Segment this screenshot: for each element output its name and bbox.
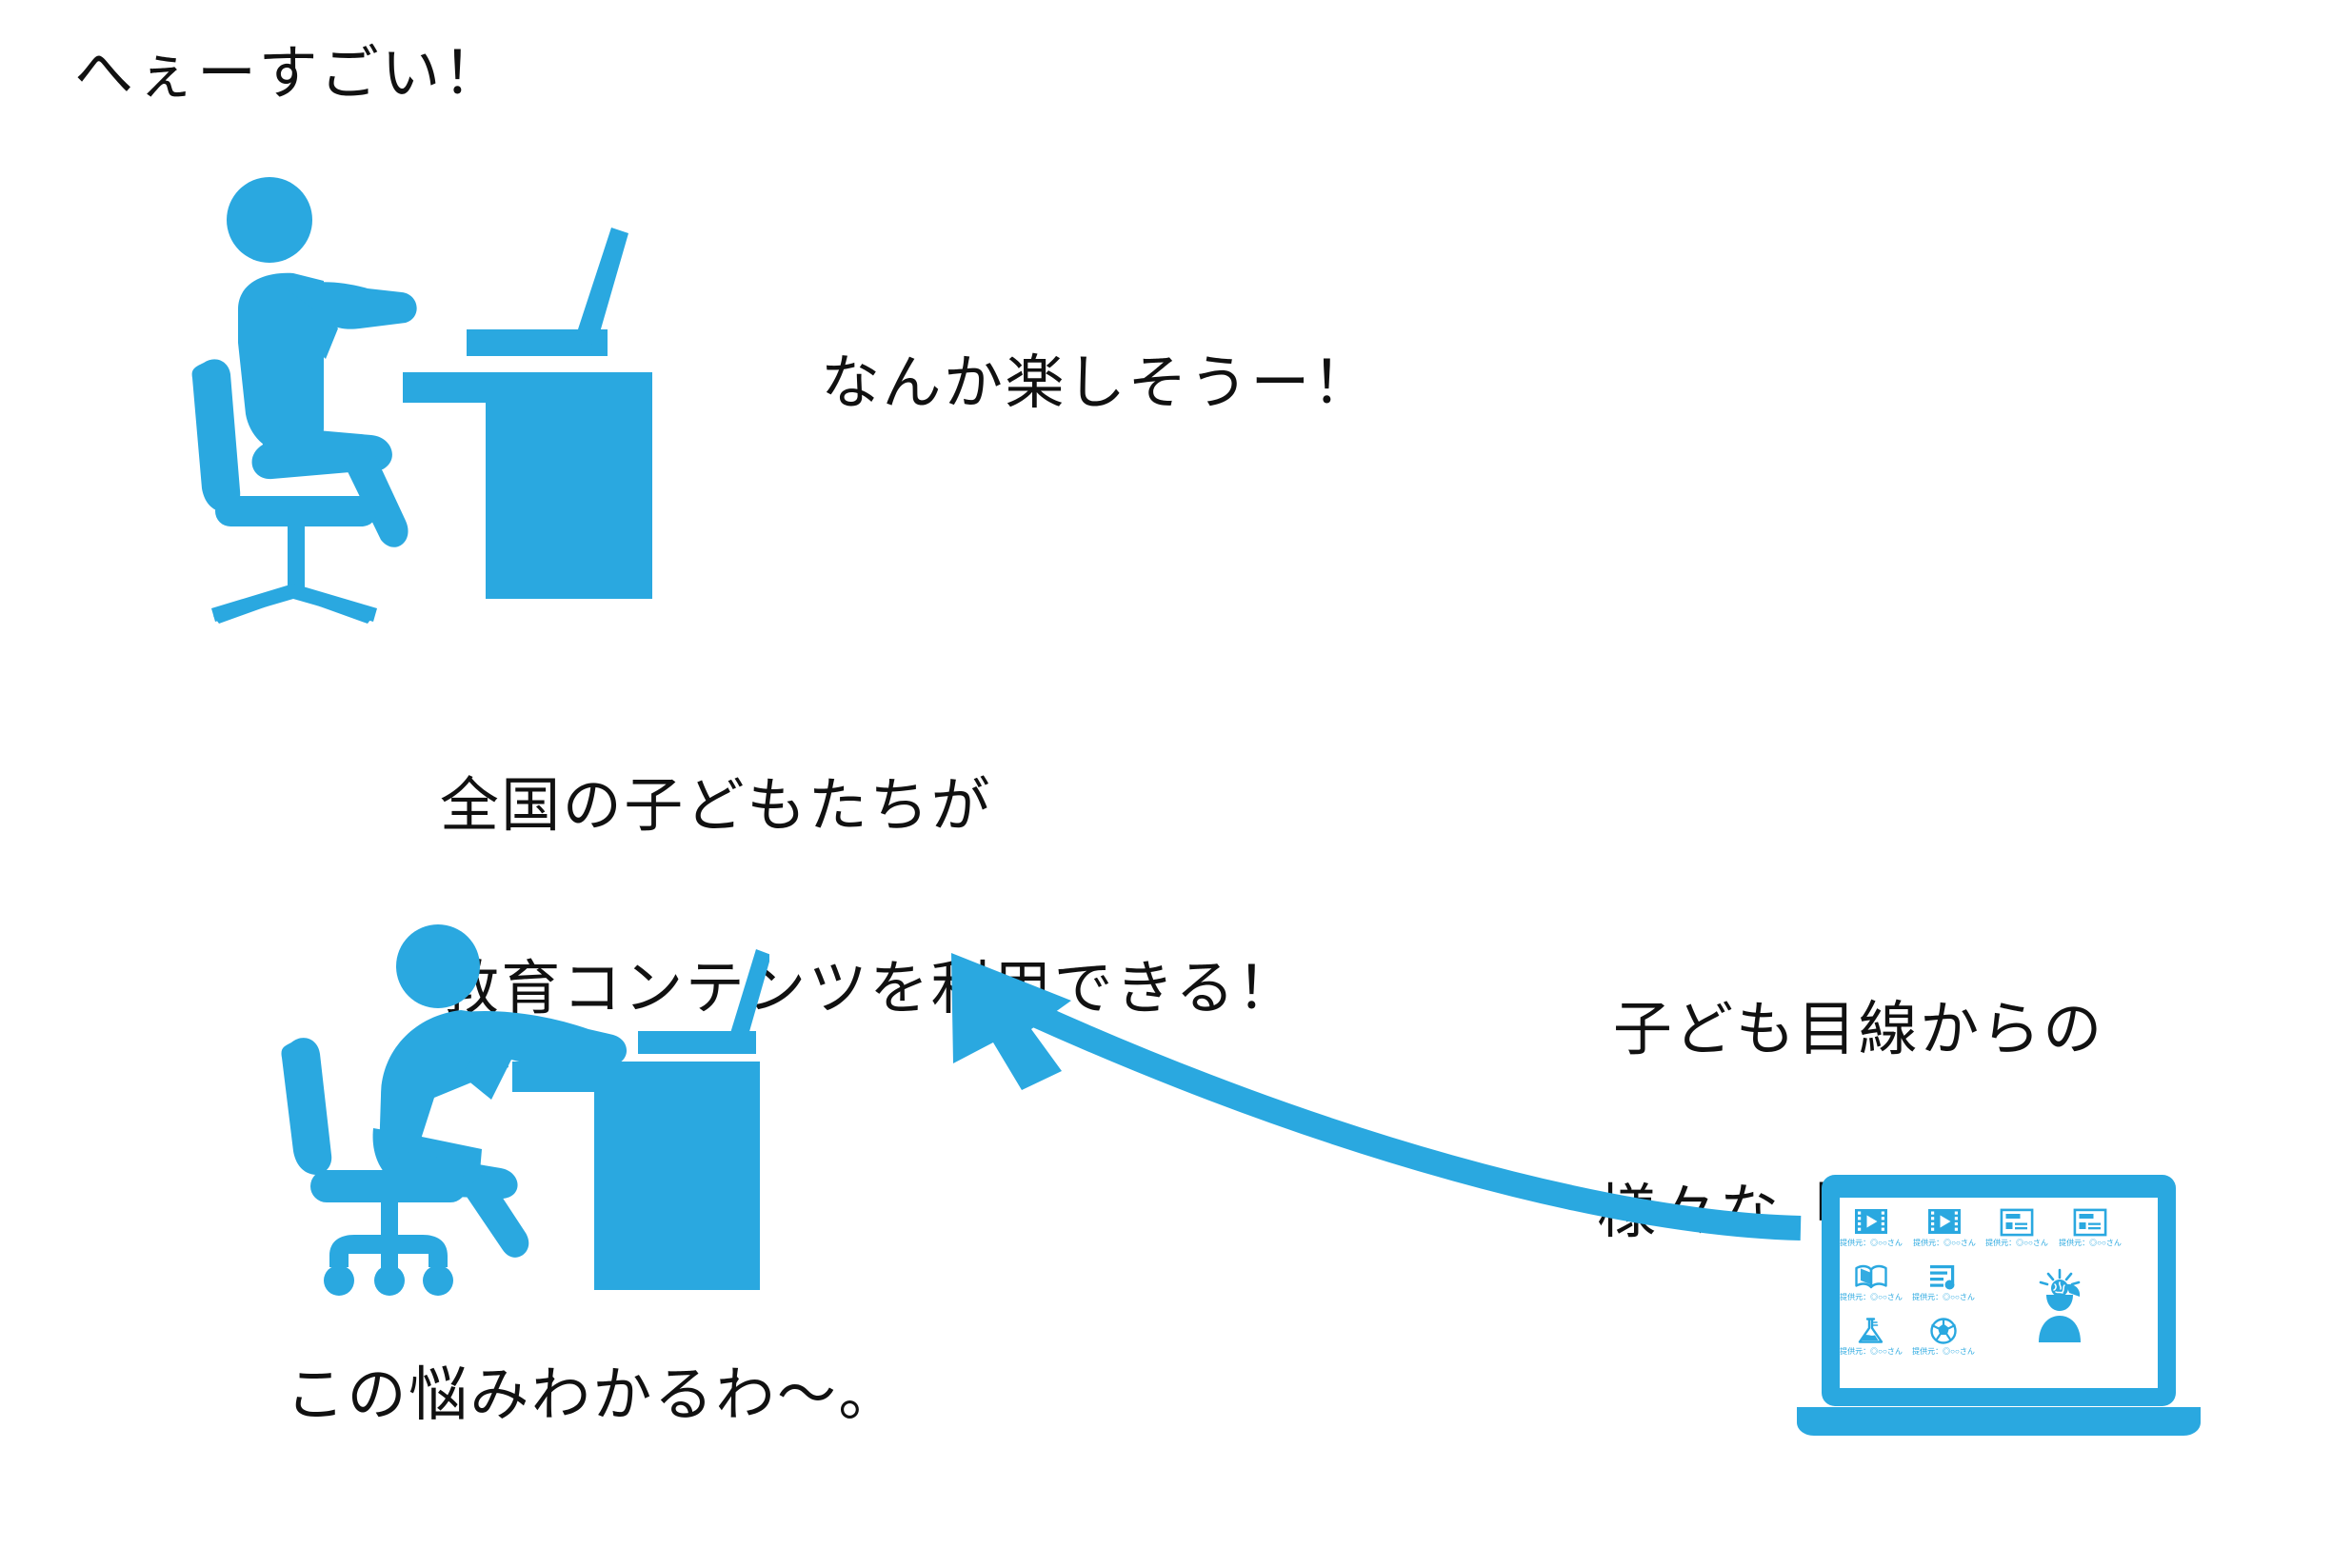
caption-nationwide-line1: 全国の子どもたちが (440, 773, 992, 839)
content-label: 提供元：◎○○さん (1840, 1346, 1903, 1356)
content-label: 提供元：◎○○さん (1985, 1238, 2048, 1247)
illustration-canvas: へぇーすごい！ (0, 0, 2352, 1568)
content-label: 提供元：◎○○さん (1840, 1292, 1903, 1301)
person-at-desk-slouched-icon (274, 909, 769, 1309)
curved-arrow-left-up-icon (919, 938, 1814, 1252)
content-label: 提供元：◎○○さん (1840, 1238, 1903, 1247)
caption-i-understand-this-worry: この悩みわかるわ〜。 (286, 1350, 900, 1441)
content-label: 提供元：◎○○さん (1912, 1346, 1975, 1356)
caption-wow: へぇーすごい！ (74, 29, 504, 120)
person-at-desk-upright-icon (181, 176, 667, 624)
content-label: 提供元：◎○○さん (1913, 1238, 1976, 1247)
content-label: 提供元：◎○○さん (2059, 1238, 2122, 1247)
laptop-content-catalog-icon: 提供元：◎○○さん 提供元：◎○○さん 提供元：◎○○さん 提供元：◎○○さん … (1795, 1173, 2203, 1439)
content-label: 提供元：◎○○さん (1912, 1292, 1975, 1301)
caption-looks-fun: なんか楽しそうー！ (821, 338, 1373, 429)
